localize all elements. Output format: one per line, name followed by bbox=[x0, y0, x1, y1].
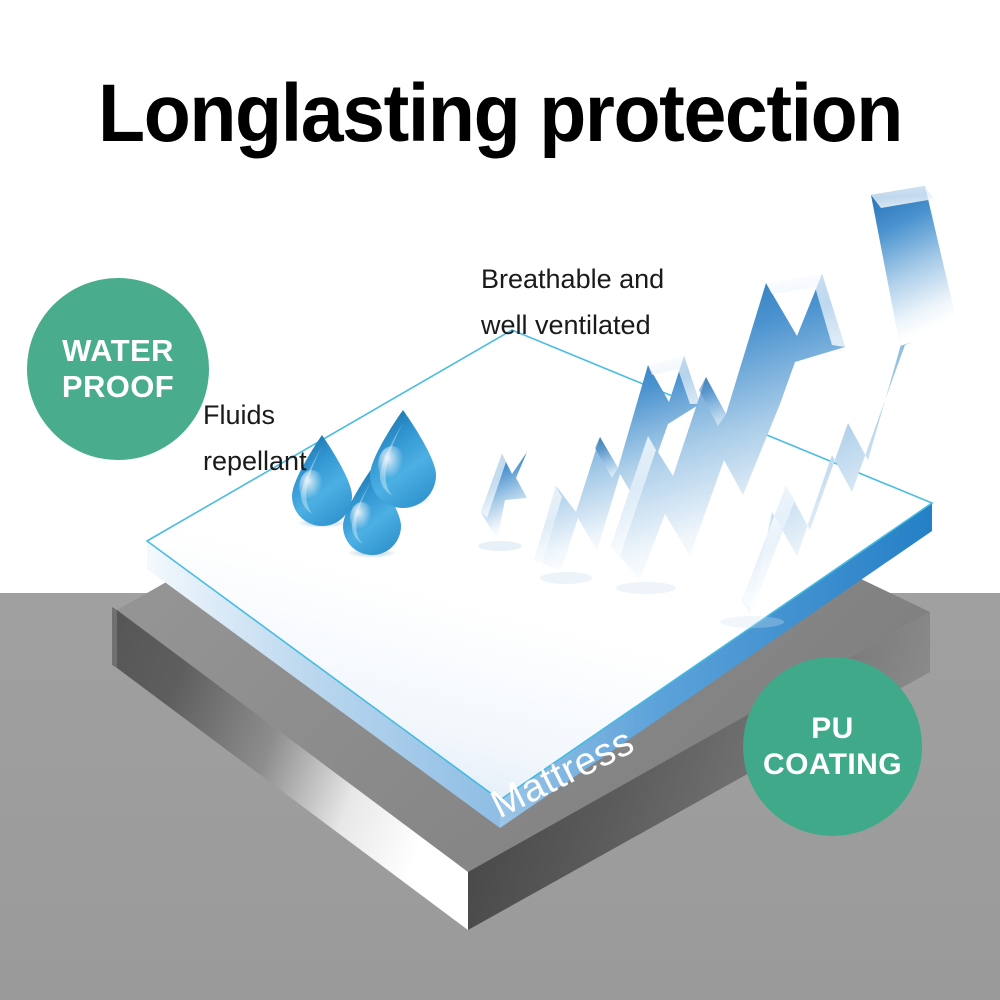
callout-fluids-repellant: Fluids repellant bbox=[203, 392, 307, 484]
badge-waterproof[interactable]: WATER PROOF bbox=[27, 278, 209, 460]
infographic-poster: Longlasting protection bbox=[0, 0, 1000, 1000]
badge-pu-coating-label: PU COATING bbox=[763, 711, 902, 783]
badge-pu-coating[interactable]: PU COATING bbox=[743, 657, 922, 836]
callout-breathable: Breathable and well ventilated bbox=[481, 256, 664, 348]
mattress-protector-diagram bbox=[0, 0, 1000, 1000]
badge-waterproof-label: WATER PROOF bbox=[62, 333, 174, 405]
